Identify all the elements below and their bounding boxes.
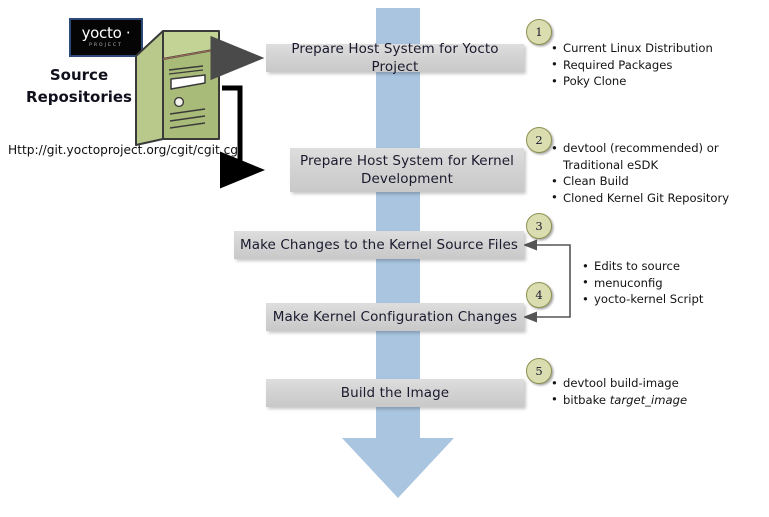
bullet-item: Required Packages [551, 57, 763, 74]
bullet-items-step-2: devtool (recommended) or Traditional eSD… [551, 140, 765, 206]
bullet-item: Poky Clone [551, 73, 763, 90]
bullet-items-step-1: Current Linux DistributionRequired Packa… [551, 40, 763, 90]
bullet-list-step-5: devtool build-imagebitbake target_image [551, 375, 751, 408]
yocto-logo-wordmark: yocto · [82, 26, 131, 41]
step-circle-5: 5 [526, 358, 552, 384]
step-circle-1: 1 [526, 19, 552, 45]
source-repositories-label: Source Repositories [14, 64, 144, 108]
bullet-list-steps-3-4: Edits to sourcemenuconfigyocto-kernel Sc… [582, 258, 762, 308]
bullet-items-steps-3-4: Edits to sourcemenuconfigyocto-kernel Sc… [582, 258, 762, 308]
yocto-logo-subtext: PROJECT [89, 42, 123, 50]
process-box-step-4[interactable]: Make Kernel Configuration Changes [266, 303, 524, 331]
bullet-item: Current Linux Distribution [551, 40, 763, 57]
main-flow-arrow-head [342, 438, 454, 498]
process-box-step-3[interactable]: Make Changes to the Kernel Source Files [234, 231, 524, 259]
step-circle-2: 2 [526, 127, 552, 153]
bullet-items-step-5: devtool build-imagebitbake target_image [551, 375, 751, 408]
arrowhead-to-step3 [523, 240, 537, 251]
arrowhead-to-step4 [523, 312, 537, 323]
server-tower-icon [133, 26, 229, 146]
yocto-project-logo: yocto · PROJECT [69, 18, 143, 57]
bullet-item: menuconfig [582, 275, 762, 292]
bullet-item: yocto-kernel Script [582, 291, 762, 308]
bullet-item: devtool build-image [551, 375, 751, 392]
step-circle-4: 4 [526, 282, 552, 308]
bullet-item: Cloned Kernel Git Repository [551, 190, 765, 207]
bullet-item: bitbake target_image [551, 392, 751, 409]
diagram-canvas: yocto · PROJECT Source Repositories Http… [0, 0, 769, 517]
bullet-item: Edits to source [582, 258, 762, 275]
bullet-list-step-2: devtool (recommended) or Traditional eSD… [551, 140, 765, 206]
bullet-list-step-1: Current Linux DistributionRequired Packa… [551, 40, 763, 90]
bullet-item: devtool (recommended) or Traditional eSD… [551, 140, 765, 173]
process-box-step-2[interactable]: Prepare Host System for Kernel Developme… [290, 148, 524, 192]
process-box-step-1[interactable]: Prepare Host System for Yocto Project [266, 44, 524, 72]
process-box-step-5[interactable]: Build the Image [266, 379, 524, 407]
bullet-item: Clean Build [551, 173, 765, 190]
step-circle-3: 3 [526, 213, 552, 239]
